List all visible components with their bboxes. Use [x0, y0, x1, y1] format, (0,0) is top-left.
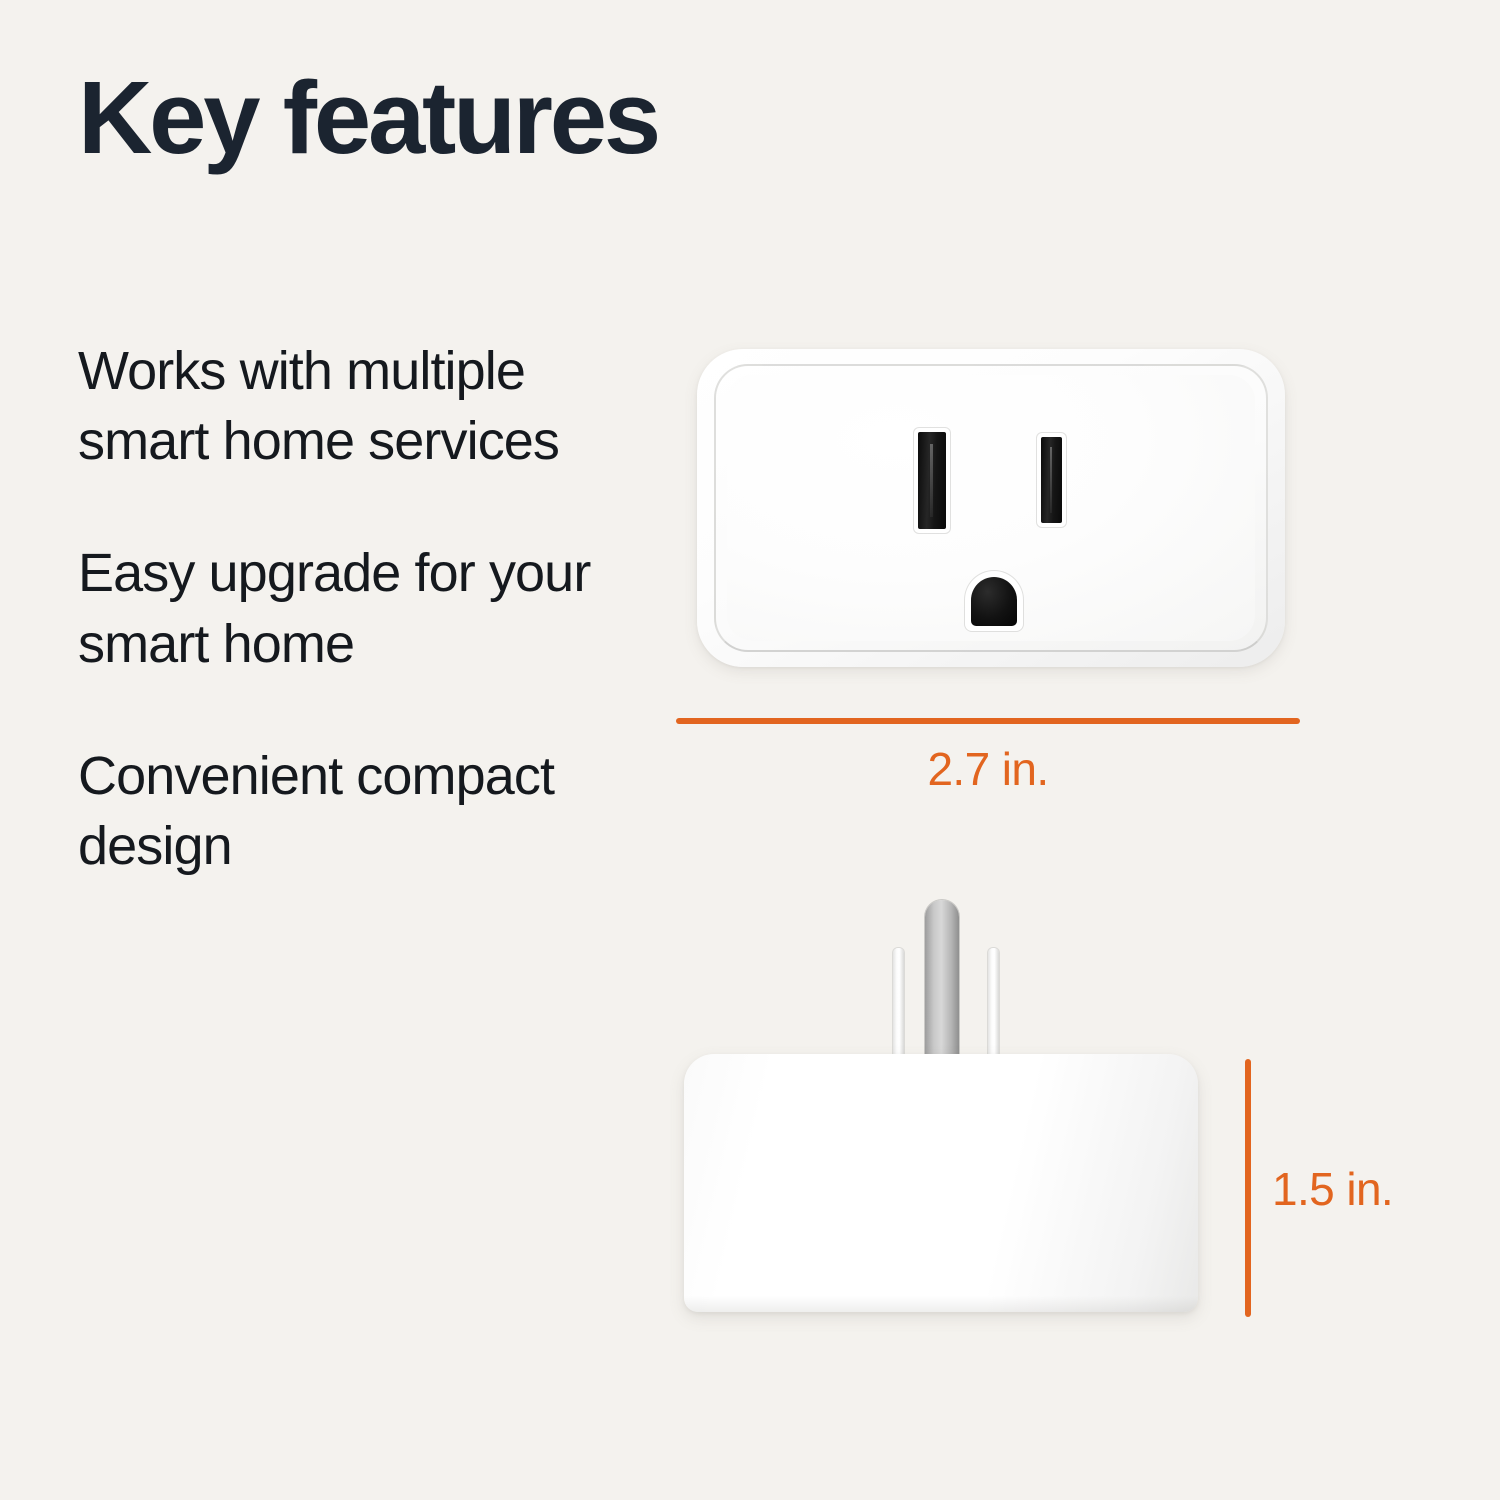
- smart-plug-side-image: [684, 1054, 1198, 1312]
- key-features-page: Key features Works with multiple smart h…: [0, 0, 1500, 1500]
- outlet-neutral-slot: [914, 428, 950, 533]
- outlet-ground-hole: [965, 571, 1023, 631]
- product-illustrations: 2.7 in. 1.5 in.: [0, 0, 1500, 1500]
- height-dimension-label: 1.5 in.: [1272, 1162, 1393, 1216]
- width-dimension-line: [676, 718, 1300, 724]
- outlet-face: [697, 349, 1285, 667]
- height-dimension-line: [1245, 1059, 1251, 1317]
- width-dimension-label: 2.7 in.: [676, 742, 1300, 796]
- outlet-hot-slot: [1037, 433, 1066, 527]
- smart-plug-front-image: [697, 349, 1285, 667]
